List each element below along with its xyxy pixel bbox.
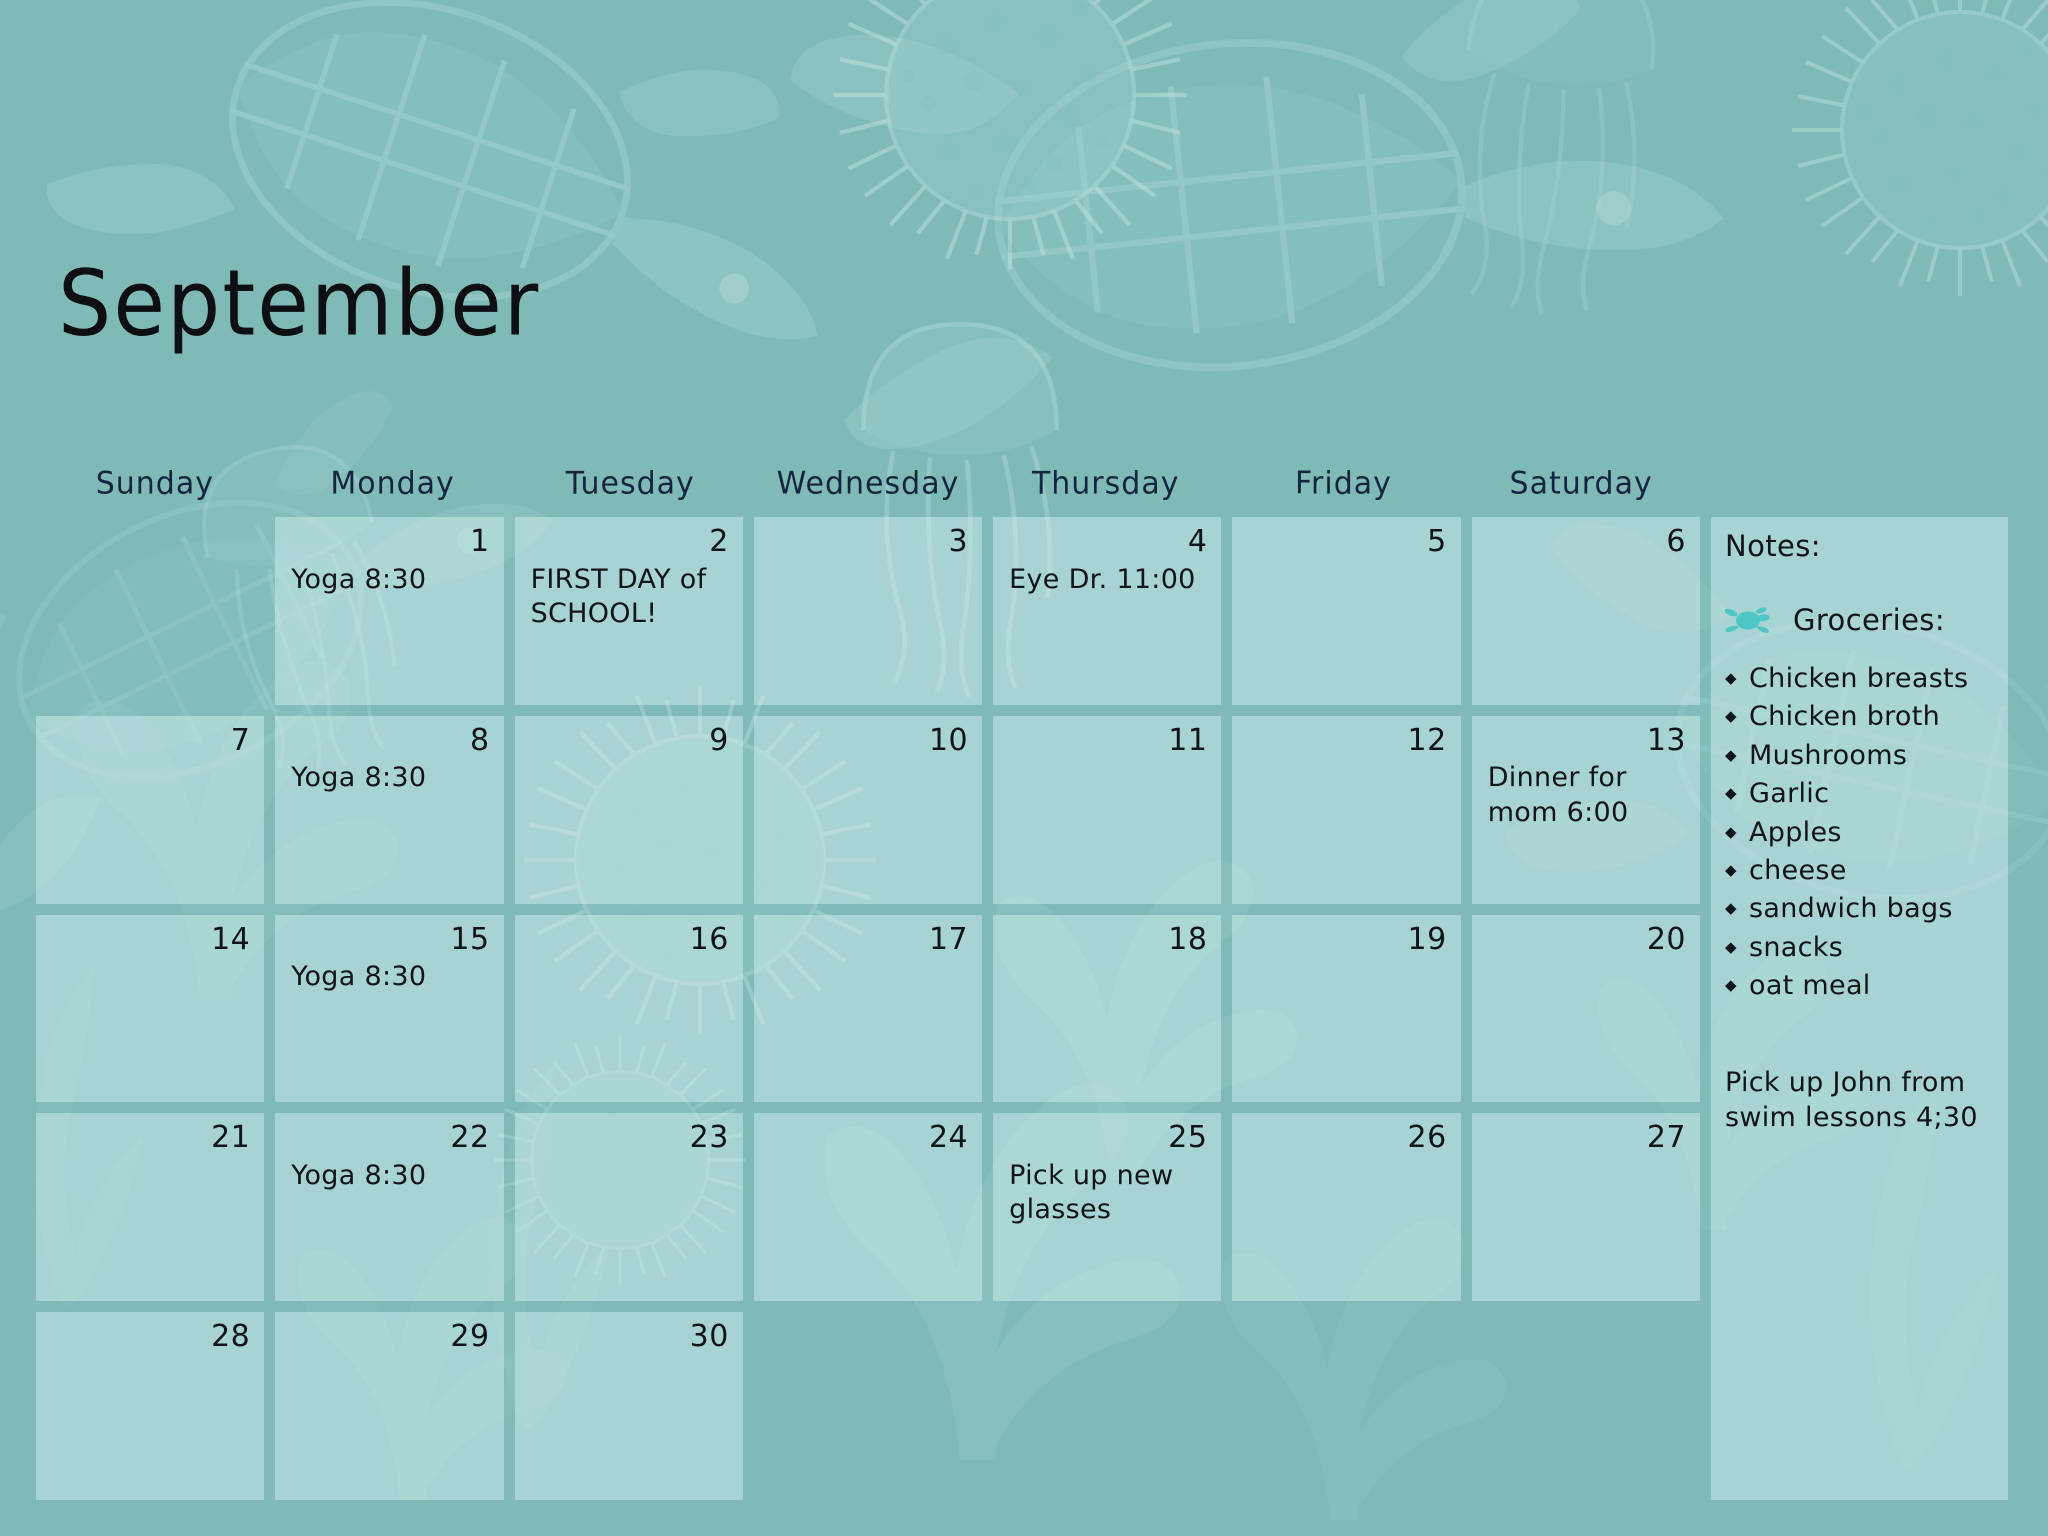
calendar-cell[interactable]: 26 — [1232, 1113, 1460, 1301]
weekday-monday: Monday — [274, 465, 512, 507]
calendar-cell[interactable]: 7 — [36, 716, 264, 904]
page-title: September — [58, 258, 540, 349]
calendar-cell[interactable]: 12 — [1232, 716, 1460, 904]
event-list: Yoga 8:30 — [291, 960, 489, 995]
weekday-tuesday: Tuesday — [511, 465, 749, 507]
calendar-cell[interactable]: 5 — [1232, 517, 1460, 705]
day-number: 28 — [52, 1318, 250, 1356]
event-list: Eye Dr. 11:00 — [1009, 563, 1207, 598]
calendar-cell[interactable]: 2FIRST DAY of SCHOOL! — [515, 517, 743, 705]
day-number: 22 — [291, 1119, 489, 1157]
event-list: Yoga 8:30 — [291, 1159, 489, 1194]
day-number: 25 — [1009, 1119, 1207, 1157]
event-entry[interactable]: Yoga 8:30 — [291, 1159, 489, 1194]
day-number: 9 — [531, 722, 729, 760]
calendar-cell[interactable]: 17 — [754, 915, 982, 1103]
notes-panel[interactable]: Notes: Groceries: Chicken breastsChicken… — [1711, 517, 2008, 1500]
calendar-cell-empty — [993, 1312, 1221, 1500]
calendar-grid: 1Yoga 8:302FIRST DAY of SCHOOL!34Eye Dr.… — [36, 517, 1700, 1500]
grocery-list-item[interactable]: Chicken breasts — [1725, 663, 2000, 695]
grocery-list-item[interactable]: Mushrooms — [1725, 740, 2000, 772]
weekday-sunday: Sunday — [36, 465, 274, 507]
day-number: 21 — [52, 1119, 250, 1157]
day-number: 3 — [770, 523, 968, 561]
grocery-list-item[interactable]: Apples — [1725, 817, 2000, 849]
event-list: Dinner for mom 6:00 — [1488, 761, 1686, 830]
calendar-page: September Sunday Monday Tuesday Wednesda… — [0, 0, 2048, 1536]
day-number: 6 — [1488, 523, 1686, 561]
notes-footer-note: Pick up John from swim lessons 4;30 — [1725, 1065, 2000, 1135]
day-number: 7 — [52, 722, 250, 760]
calendar-cell[interactable]: 25Pick up new glasses — [993, 1113, 1221, 1301]
calendar-cell[interactable]: 21 — [36, 1113, 264, 1301]
event-list: Pick up new glasses — [1009, 1159, 1207, 1228]
day-number: 16 — [531, 921, 729, 959]
day-number: 5 — [1248, 523, 1446, 561]
calendar-cell[interactable]: 29 — [275, 1312, 503, 1500]
turtle-icon — [1725, 605, 1771, 635]
calendar-cell[interactable]: 16 — [515, 915, 743, 1103]
weekday-saturday: Saturday — [1462, 465, 1700, 507]
event-entry[interactable]: Pick up new glasses — [1009, 1159, 1207, 1228]
calendar-cell[interactable]: 15Yoga 8:30 — [275, 915, 503, 1103]
calendar-cell[interactable]: 4Eye Dr. 11:00 — [993, 517, 1221, 705]
calendar-cell[interactable]: 9 — [515, 716, 743, 904]
event-list: Yoga 8:30 — [291, 563, 489, 598]
grocery-list-item[interactable]: Garlic — [1725, 778, 2000, 810]
day-number: 18 — [1009, 921, 1207, 959]
grocery-list-item[interactable]: snacks — [1725, 932, 2000, 964]
calendar-cell[interactable]: 1Yoga 8:30 — [275, 517, 503, 705]
calendar-cell[interactable]: 10 — [754, 716, 982, 904]
groceries-heading-row: Groceries: — [1725, 603, 2000, 637]
calendar-cell[interactable]: 11 — [993, 716, 1221, 904]
event-entry[interactable]: Yoga 8:30 — [291, 960, 489, 995]
day-number: 17 — [770, 921, 968, 959]
grocery-list-item[interactable]: sandwich bags — [1725, 893, 2000, 925]
day-number: 24 — [770, 1119, 968, 1157]
calendar-cell[interactable]: 14 — [36, 915, 264, 1103]
calendar-cell[interactable]: 19 — [1232, 915, 1460, 1103]
event-entry[interactable]: Yoga 8:30 — [291, 563, 489, 598]
weekday-friday: Friday — [1225, 465, 1463, 507]
day-number: 15 — [291, 921, 489, 959]
day-number: 26 — [1248, 1119, 1446, 1157]
calendar-cell[interactable]: 28 — [36, 1312, 264, 1500]
groceries-title: Groceries: — [1793, 603, 1945, 637]
day-number: 4 — [1009, 523, 1207, 561]
calendar-cell[interactable]: 20 — [1472, 915, 1700, 1103]
weekday-wednesday: Wednesday — [749, 465, 987, 507]
day-number: 12 — [1248, 722, 1446, 760]
event-list: Yoga 8:30 — [291, 761, 489, 796]
event-entry[interactable]: Yoga 8:30 — [291, 761, 489, 796]
calendar-cell[interactable]: 3 — [754, 517, 982, 705]
day-number: 19 — [1248, 921, 1446, 959]
calendar-cell[interactable]: 6 — [1472, 517, 1700, 705]
grocery-list: Chicken breastsChicken brothMushroomsGar… — [1725, 663, 2000, 1003]
day-number: 29 — [291, 1318, 489, 1356]
calendar-cell[interactable]: 27 — [1472, 1113, 1700, 1301]
day-number: 14 — [52, 921, 250, 959]
day-number: 20 — [1488, 921, 1686, 959]
calendar-cell-empty — [1472, 1312, 1700, 1500]
calendar-cell[interactable]: 18 — [993, 915, 1221, 1103]
day-number: 11 — [1009, 722, 1207, 760]
day-number: 10 — [770, 722, 968, 760]
calendar-cell[interactable]: 23 — [515, 1113, 743, 1301]
event-entry[interactable]: FIRST DAY of SCHOOL! — [531, 563, 729, 632]
weekday-thursday: Thursday — [987, 465, 1225, 507]
day-number: 2 — [531, 523, 729, 561]
grocery-list-item[interactable]: cheese — [1725, 855, 2000, 887]
day-number: 8 — [291, 722, 489, 760]
calendar-cell[interactable]: 13Dinner for mom 6:00 — [1472, 716, 1700, 904]
day-number: 13 — [1488, 722, 1686, 760]
calendar-cell[interactable]: 22Yoga 8:30 — [275, 1113, 503, 1301]
event-entry[interactable]: Eye Dr. 11:00 — [1009, 563, 1207, 598]
day-number: 23 — [531, 1119, 729, 1157]
calendar-cell-empty — [754, 1312, 982, 1500]
event-entry[interactable]: Dinner for mom 6:00 — [1488, 761, 1686, 830]
day-number: 27 — [1488, 1119, 1686, 1157]
calendar-cell[interactable]: 30 — [515, 1312, 743, 1500]
day-number: 30 — [531, 1318, 729, 1356]
calendar-cell-empty — [1232, 1312, 1460, 1500]
calendar-cell-empty — [36, 517, 264, 705]
weekday-header-row: Sunday Monday Tuesday Wednesday Thursday… — [36, 466, 1700, 506]
grocery-list-item[interactable]: oat meal — [1725, 970, 2000, 1002]
grocery-list-item[interactable]: Chicken broth — [1725, 701, 2000, 733]
calendar-cell[interactable]: 24 — [754, 1113, 982, 1301]
day-number: 1 — [291, 523, 489, 561]
event-list: FIRST DAY of SCHOOL! — [531, 563, 729, 632]
calendar-cell[interactable]: 8Yoga 8:30 — [275, 716, 503, 904]
notes-title: Notes: — [1725, 529, 2000, 563]
